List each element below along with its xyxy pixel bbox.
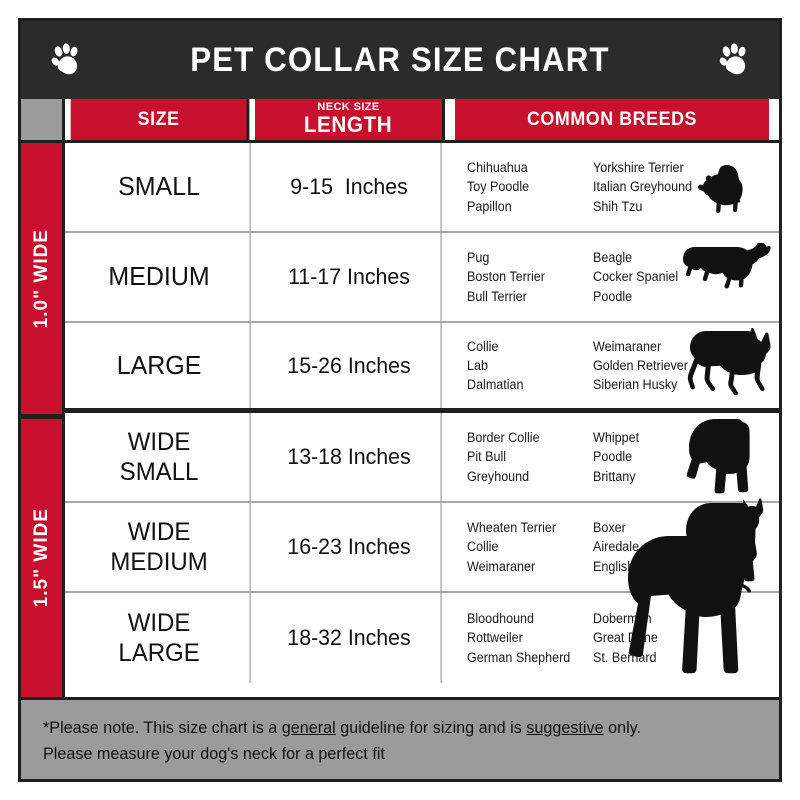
bulldog-silhouette	[681, 417, 757, 506]
footer-text-post: only.	[604, 719, 641, 737]
page-title: PET COLLAR SIZE CHART	[190, 41, 609, 80]
chart-header: PET COLLAR SIZE CHART	[21, 21, 779, 99]
footer-line-1: *Please note. This size chart is a gener…	[43, 716, 764, 742]
row-size-label: MEDIUM	[69, 233, 251, 321]
breed-item: German Shepherd	[467, 648, 584, 667]
beagle-silhouette	[681, 243, 773, 314]
row-breeds: Border Collie Pit Bull Greyhound Whippet…	[445, 413, 779, 501]
row-length-value: 9-15 Inches	[258, 143, 442, 231]
size-line-1: WIDE	[128, 608, 191, 639]
row-size-label: WIDE LARGE	[69, 593, 251, 683]
doberman-silhouette	[597, 530, 769, 693]
row-size-label: WIDE SMALL	[69, 413, 251, 501]
row-length-value: 15-26 Inches	[258, 323, 442, 408]
breeds-column-1: Chihuahua Toy Poodle Papillon	[467, 158, 584, 215]
corner-cell	[21, 99, 65, 140]
breed-item: Boston Terrier	[467, 267, 584, 286]
breed-item: Greyhound	[467, 467, 584, 486]
row-breeds: Pug Boston Terrier Bull Terrier Beagle C…	[445, 233, 779, 321]
row-length-value: 11-17 Inches	[258, 233, 442, 321]
section-label-text: 1.5" WIDE	[31, 508, 53, 607]
breed-item: Border Collie	[467, 428, 584, 447]
breed-item: Weimaraner	[467, 557, 584, 576]
breed-item: Toy Poodle	[467, 177, 584, 196]
chart-frame: PET COLLAR SIZE CHART SIZE NECK SIZE LEN…	[18, 18, 782, 782]
footer-line-2: Please measure your dog's neck for a per…	[43, 742, 764, 768]
breed-item: Collie	[467, 337, 584, 356]
footer-text-pre: *Please note. This size chart is a	[43, 719, 282, 737]
row-length-value: 13-18 Inches	[258, 413, 442, 501]
breeds-column-1: Pug Boston Terrier Bull Terrier	[467, 248, 584, 305]
breeds-column-1: Bloodhound Rottweiler German Shepherd	[467, 609, 584, 666]
pet-collar-size-chart: PET COLLAR SIZE CHART SIZE NECK SIZE LEN…	[0, 0, 800, 800]
footer-underline-suggestive: suggestive	[526, 719, 603, 737]
footer-note: *Please note. This size chart is a gener…	[21, 697, 779, 779]
size-line-2: SMALL	[120, 457, 199, 488]
breed-item: Bloodhound	[467, 609, 584, 628]
pomeranian-silhouette	[687, 159, 751, 226]
row-length-value: 16-23 Inches	[258, 503, 442, 591]
row-size-label: SMALL	[69, 143, 251, 231]
breeds-column-1: Border Collie Pit Bull Greyhound	[467, 428, 584, 485]
row-size-label: WIDE MEDIUM	[69, 503, 251, 591]
breeds-column-1: Wheaten Terrier Collie Weimaraner	[467, 518, 584, 575]
breed-item: Pug	[467, 248, 584, 267]
section-label-1-0-wide: 1.0" WIDE	[21, 143, 65, 419]
row-length-value: 18-32 Inches	[258, 593, 442, 683]
breed-item: Wheaten Terrier	[467, 518, 584, 537]
column-header-length: NECK SIZE LENGTH	[255, 99, 445, 140]
breed-item: Lab	[467, 356, 584, 375]
row-breeds: Chihuahua Toy Poodle Papillon Yorkshire …	[445, 143, 779, 231]
table-row: MEDIUM 11-17 Inches Pug Boston Terrier B…	[65, 233, 779, 323]
breed-item: Collie	[467, 537, 584, 556]
breed-item: Pit Bull	[467, 447, 584, 466]
width-rail-column: 1.0" WIDE 1.5" WIDE	[21, 143, 65, 697]
shepherd-silhouette	[677, 327, 775, 414]
paw-print-icon	[719, 43, 749, 77]
breed-item: Bull Terrier	[467, 287, 584, 306]
footer-underline-general: general	[282, 719, 336, 737]
table-row: WIDE SMALL 13-18 Inches Border Collie Pi…	[65, 413, 779, 503]
footer-text-mid: guideline for sizing and is	[336, 719, 527, 737]
size-line-1: MEDIUM	[108, 261, 209, 293]
column-header-breeds: COMMON BREEDS	[455, 99, 769, 140]
breeds-column-1: Collie Lab Dalmatian	[467, 337, 584, 394]
section-label-text: 1.0" WIDE	[31, 229, 53, 328]
size-line-1: LARGE	[117, 350, 202, 382]
section-label-1-5-wide: 1.5" WIDE	[21, 419, 65, 697]
breed-item: Rottweiler	[467, 628, 584, 647]
table-column-headers: SIZE NECK SIZE LENGTH COMMON BREEDS	[21, 99, 779, 143]
size-line-2: MEDIUM	[110, 547, 207, 578]
column-header-length-main: LENGTH	[304, 113, 392, 136]
size-line-1: SMALL	[118, 171, 200, 203]
table-row: LARGE 15-26 Inches Collie Lab Dalmatian …	[65, 323, 779, 413]
size-line-1: WIDE	[128, 427, 191, 458]
breed-item: Papillon	[467, 197, 584, 216]
size-line-1: WIDE	[128, 517, 191, 548]
breed-item: Chihuahua	[467, 158, 584, 177]
row-size-label: LARGE	[69, 323, 251, 408]
table-row: SMALL 9-15 Inches Chihuahua Toy Poodle P…	[65, 143, 779, 233]
paw-print-icon	[51, 43, 81, 77]
column-header-size: SIZE	[71, 99, 250, 140]
size-line-2: LARGE	[118, 638, 199, 669]
breed-item: Dalmatian	[467, 375, 584, 394]
row-breeds: Collie Lab Dalmatian Weimaraner Golden R…	[445, 323, 779, 408]
